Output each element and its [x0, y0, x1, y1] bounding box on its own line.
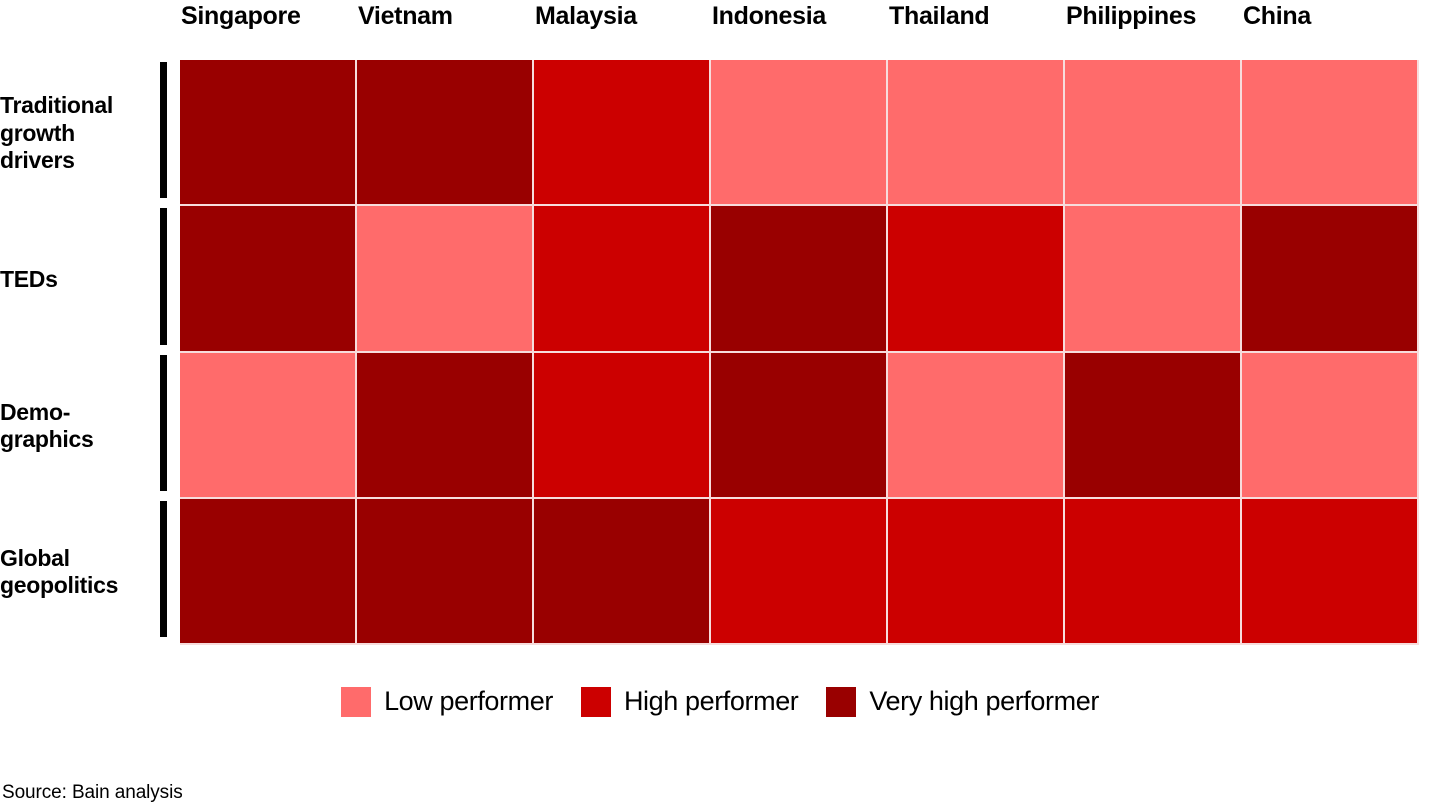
column-header-malaysia: Malaysia	[535, 2, 637, 31]
heatmap-cell	[357, 499, 534, 645]
legend-item-low: Low performer	[341, 686, 553, 717]
row-label-text: Global geopolitics	[0, 545, 158, 599]
column-header-china: China	[1243, 2, 1311, 31]
row-label-text: Demo- graphics	[0, 399, 158, 453]
row-label-3: Global geopolitics	[0, 499, 180, 645]
row-marker-bar	[160, 62, 167, 198]
heatmap-cell	[1065, 206, 1242, 352]
heatmap-cell	[180, 499, 357, 645]
heatmap-cell	[711, 60, 888, 206]
legend-item-high: High performer	[581, 686, 798, 717]
heatmap-cell	[180, 206, 357, 352]
column-header-thailand: Thailand	[889, 2, 989, 31]
heatmap-cell	[711, 206, 888, 352]
heatmap-cell	[711, 499, 888, 645]
row-marker-bar	[160, 501, 167, 637]
row-label-column: Traditional growth driversTEDsDemo- grap…	[0, 60, 180, 645]
legend-swatch-high	[581, 687, 611, 717]
column-header-vietnam: Vietnam	[358, 2, 453, 31]
heatmap-cell	[711, 353, 888, 499]
row-label-0: Traditional growth drivers	[0, 60, 180, 206]
row-label-2: Demo- graphics	[0, 353, 180, 499]
heatmap-cell	[888, 206, 1065, 352]
legend-label: Very high performer	[869, 686, 1099, 717]
column-header-indonesia: Indonesia	[712, 2, 826, 31]
heatmap-cell	[180, 353, 357, 499]
heatmap-cell	[180, 60, 357, 206]
row-marker-bar	[160, 208, 167, 344]
legend-label: High performer	[624, 686, 798, 717]
row-label-text: Traditional growth drivers	[0, 92, 158, 173]
column-header-singapore: Singapore	[181, 2, 301, 31]
heatmap-cell	[888, 499, 1065, 645]
legend: Low performerHigh performerVery high per…	[0, 686, 1440, 717]
column-header-row: SingaporeVietnamMalaysiaIndonesiaThailan…	[180, 0, 1419, 60]
row-label-1: TEDs	[0, 206, 180, 352]
legend-swatch-low	[341, 687, 371, 717]
heatmap-cell	[1065, 499, 1242, 645]
heatmap-cell	[888, 353, 1065, 499]
row-label-text: TEDs	[0, 266, 158, 293]
heatmap-cell	[534, 499, 711, 645]
legend-item-very_high: Very high performer	[826, 686, 1099, 717]
column-header-philippines: Philippines	[1066, 2, 1196, 31]
heatmap-cell	[1065, 353, 1242, 499]
heatmap-cell	[357, 353, 534, 499]
heatmap-cell	[357, 60, 534, 206]
legend-label: Low performer	[384, 686, 553, 717]
source-note: Source: Bain analysis	[2, 782, 183, 804]
heatmap-grid	[180, 60, 1419, 645]
heatmap-cell	[1242, 499, 1419, 645]
heatmap-cell	[1065, 60, 1242, 206]
heatmap-cell	[357, 206, 534, 352]
heatmap-cell	[534, 60, 711, 206]
heatmap-cell	[534, 206, 711, 352]
heatmap-cell	[1242, 60, 1419, 206]
heatmap-cell	[534, 353, 711, 499]
heatmap-cell	[888, 60, 1065, 206]
row-marker-bar	[160, 355, 167, 491]
heatmap-cell	[1242, 206, 1419, 352]
heatmap-page: SingaporeVietnamMalaysiaIndonesiaThailan…	[0, 0, 1440, 810]
legend-swatch-very_high	[826, 687, 856, 717]
heatmap-cell	[1242, 353, 1419, 499]
